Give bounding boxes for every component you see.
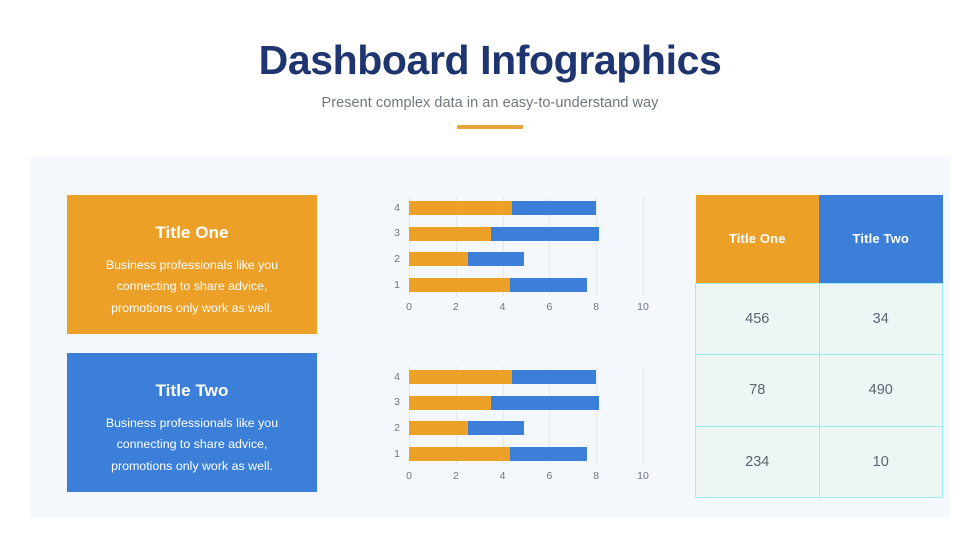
bar-segment-series-2[interactable] bbox=[468, 252, 524, 266]
bar-segment-series-2[interactable] bbox=[512, 201, 596, 215]
bar-segment-series-1[interactable] bbox=[409, 396, 491, 410]
y-tick-label: 4 bbox=[378, 203, 400, 214]
bar-segment-series-1[interactable] bbox=[409, 252, 468, 266]
info-card-title: Title One bbox=[85, 223, 299, 243]
gridline bbox=[596, 366, 597, 465]
y-tick-label: 3 bbox=[378, 228, 400, 239]
x-axis-labels: 0246810 bbox=[409, 471, 643, 487]
x-tick-label: 6 bbox=[546, 302, 552, 313]
x-tick-label: 2 bbox=[453, 471, 459, 482]
stacked-bar-chart-bottom: 4321 0246810 bbox=[378, 364, 643, 492]
bar-row[interactable] bbox=[409, 370, 596, 384]
y-tick-label: 2 bbox=[378, 423, 400, 434]
data-table: Title One Title Two 456347849023410 bbox=[695, 195, 943, 498]
bar-segment-series-2[interactable] bbox=[510, 447, 587, 461]
table-cell: 10 bbox=[819, 426, 943, 498]
table-header-row: Title One Title Two bbox=[696, 195, 943, 283]
table-header: Title One Title Two bbox=[696, 195, 943, 283]
bar-segment-series-2[interactable] bbox=[491, 227, 599, 241]
bar-segment-series-2[interactable] bbox=[491, 396, 599, 410]
bar-segment-series-1[interactable] bbox=[409, 278, 510, 292]
page-title: Dashboard Infographics bbox=[0, 36, 980, 84]
info-card-title: Title Two bbox=[85, 381, 299, 401]
info-card-body: Business professionals like you connecti… bbox=[85, 413, 299, 477]
bar-row[interactable] bbox=[409, 252, 524, 266]
stacked-bar-chart-top: 4321 0246810 bbox=[378, 195, 643, 323]
y-tick-label: 3 bbox=[378, 397, 400, 408]
slide-canvas: Dashboard Infographics Present complex d… bbox=[0, 0, 980, 551]
table-row: 45634 bbox=[696, 283, 943, 355]
table-cell: 34 bbox=[819, 283, 943, 355]
gridline bbox=[596, 197, 597, 296]
bar-segment-series-2[interactable] bbox=[512, 370, 596, 384]
x-axis-labels: 0246810 bbox=[409, 302, 643, 318]
table-cell: 456 bbox=[696, 283, 820, 355]
bar-row[interactable] bbox=[409, 227, 599, 241]
y-tick-label: 1 bbox=[378, 280, 400, 291]
content-panel: Title One Business professionals like yo… bbox=[30, 157, 950, 518]
y-tick-label: 4 bbox=[378, 372, 400, 383]
plot-area: 4321 bbox=[378, 364, 643, 467]
x-tick-label: 6 bbox=[546, 471, 552, 482]
bar-row[interactable] bbox=[409, 447, 587, 461]
table-header-cell-one: Title One bbox=[696, 195, 820, 283]
table-cell: 490 bbox=[819, 355, 943, 427]
bars-container bbox=[409, 364, 643, 467]
x-tick-label: 4 bbox=[500, 471, 506, 482]
bar-segment-series-1[interactable] bbox=[409, 201, 512, 215]
slide-header: Dashboard Infographics Present complex d… bbox=[0, 36, 980, 129]
y-axis-labels: 4321 bbox=[378, 364, 400, 467]
x-tick-label: 2 bbox=[453, 302, 459, 313]
bar-segment-series-2[interactable] bbox=[510, 278, 587, 292]
bar-row[interactable] bbox=[409, 421, 524, 435]
table-header-cell-two: Title Two bbox=[819, 195, 943, 283]
x-tick-label: 4 bbox=[500, 302, 506, 313]
x-tick-label: 10 bbox=[637, 471, 649, 482]
x-tick-label: 0 bbox=[406, 302, 412, 313]
bar-segment-series-1[interactable] bbox=[409, 447, 510, 461]
bar-segment-series-1[interactable] bbox=[409, 421, 468, 435]
info-card-title-one[interactable]: Title One Business professionals like yo… bbox=[67, 195, 317, 334]
y-axis-labels: 4321 bbox=[378, 195, 400, 298]
y-tick-label: 1 bbox=[378, 449, 400, 460]
x-tick-label: 0 bbox=[406, 471, 412, 482]
bar-segment-series-1[interactable] bbox=[409, 370, 512, 384]
table-row: 23410 bbox=[696, 426, 943, 498]
page-subtitle: Present complex data in an easy-to-under… bbox=[0, 95, 980, 111]
table-cell: 78 bbox=[696, 355, 820, 427]
info-card-title-two[interactable]: Title Two Business professionals like yo… bbox=[67, 353, 317, 492]
bar-row[interactable] bbox=[409, 278, 587, 292]
info-card-body: Business professionals like you connecti… bbox=[85, 255, 299, 319]
bar-row[interactable] bbox=[409, 396, 599, 410]
table-row: 78490 bbox=[696, 355, 943, 427]
x-tick-label: 8 bbox=[593, 471, 599, 482]
bar-row[interactable] bbox=[409, 201, 596, 215]
x-tick-label: 8 bbox=[593, 302, 599, 313]
accent-divider bbox=[457, 125, 523, 129]
table-body: 456347849023410 bbox=[696, 283, 943, 498]
bar-segment-series-2[interactable] bbox=[468, 421, 524, 435]
x-tick-label: 10 bbox=[637, 302, 649, 313]
bars-container bbox=[409, 195, 643, 298]
plot-area: 4321 bbox=[378, 195, 643, 298]
table-cell: 234 bbox=[696, 426, 820, 498]
gridline bbox=[643, 366, 644, 465]
gridline bbox=[643, 197, 644, 296]
y-tick-label: 2 bbox=[378, 254, 400, 265]
bar-segment-series-1[interactable] bbox=[409, 227, 491, 241]
